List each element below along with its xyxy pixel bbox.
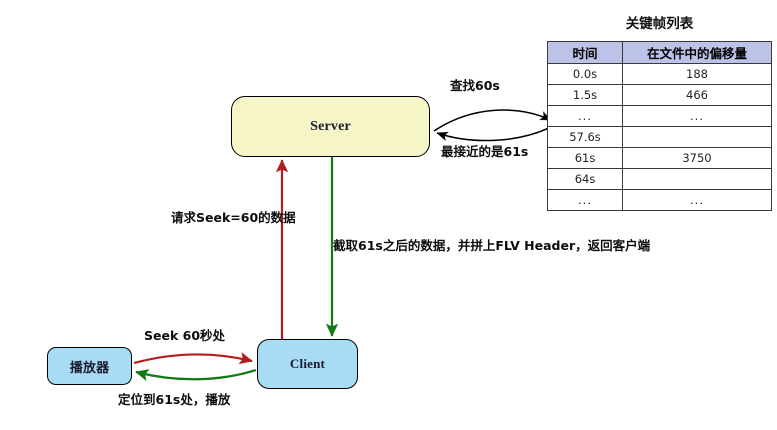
edge-label-return-data: 截取61s之后的数据，并拼上FLV Header，返回客户端 [333, 240, 650, 253]
node-server[interactable]: Server [231, 96, 430, 157]
column-header-offset: 在文件中的偏移量 [623, 42, 772, 64]
edge-nearest61-arrow [437, 126, 553, 141]
cell-time: 1.5s [548, 85, 623, 106]
cell-offset [623, 169, 772, 190]
cell-time: 0.0s [548, 64, 623, 85]
table-row: 1.5s466 [548, 85, 772, 106]
keyframe-table-body: 0.0s1881.5s466......57.6s61s375064s.....… [548, 64, 772, 211]
cell-time: 64s [548, 169, 623, 190]
keyframe-table-header-row: 时间 在文件中的偏移量 [548, 42, 772, 64]
edge-seekto61-arrow [136, 370, 256, 379]
cell-time: 61s [548, 148, 623, 169]
keyframe-table: 时间 在文件中的偏移量 0.0s1881.5s466......57.6s61s… [547, 41, 772, 211]
edge-label-request-seek: 请求Seek=60的数据 [171, 212, 296, 225]
node-client[interactable]: Client [257, 339, 358, 389]
node-player-label: 播放器 [70, 357, 110, 376]
edge-find60-arrow [434, 110, 551, 131]
edge-label-nearest61: 最接近的是61s [441, 146, 528, 159]
node-client-label: Client [290, 356, 325, 372]
node-player[interactable]: 播放器 [47, 347, 132, 385]
table-row: 64s [548, 169, 772, 190]
cell-offset: 188 [623, 64, 772, 85]
cell-offset: ... [623, 106, 772, 127]
cell-offset: 3750 [623, 148, 772, 169]
cell-offset [623, 127, 772, 148]
edge-label-find60: 查找60s [450, 80, 500, 93]
table-row: ...... [548, 106, 772, 127]
node-server-label: Server [310, 119, 351, 135]
cell-time: ... [548, 190, 623, 211]
cell-time: 57.6s [548, 127, 623, 148]
cell-offset: ... [623, 190, 772, 211]
cell-time: ... [548, 106, 623, 127]
keyframe-table-title: 关键帧列表 [547, 12, 772, 32]
cell-offset: 466 [623, 85, 772, 106]
edge-seek60-arrow [134, 354, 252, 363]
table-row: 0.0s188 [548, 64, 772, 85]
edge-label-seek60: Seek 60秒处 [144, 330, 225, 343]
table-row: 61s3750 [548, 148, 772, 169]
edge-label-seekto61: 定位到61s处，播放 [118, 394, 230, 407]
column-header-time: 时间 [548, 42, 623, 64]
table-row: 57.6s [548, 127, 772, 148]
diagram-canvas: Server Client 播放器 查找60s 最接近的是61s 请求Seek=… [0, 0, 777, 430]
table-row: ...... [548, 190, 772, 211]
